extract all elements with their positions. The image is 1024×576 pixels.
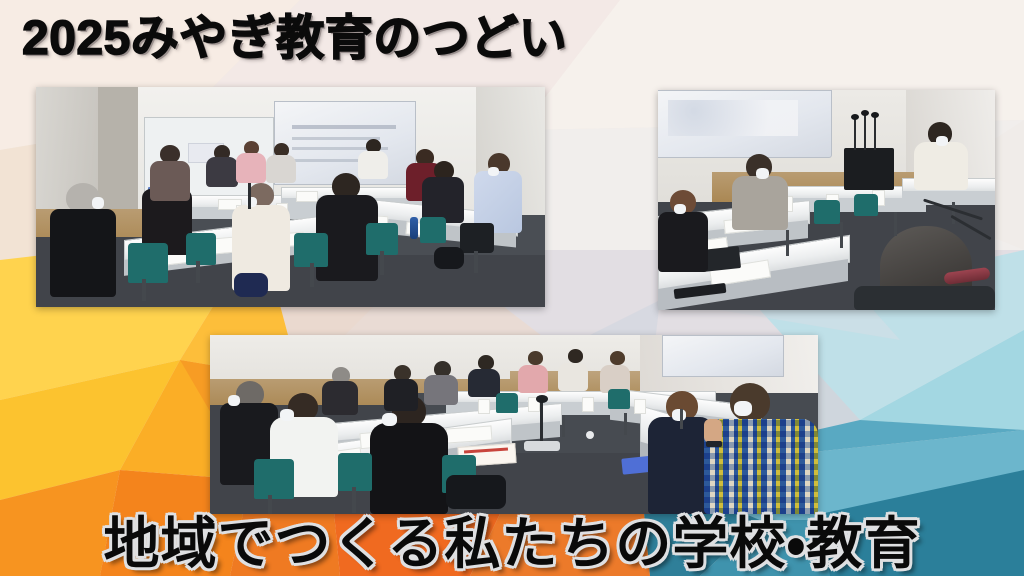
photo-bottom-center: 大きなコの字型の机を囲んで討議する多数の参加者。 <box>210 335 818 514</box>
photo-top-right: 会議室でスクリーンとマイクスタンドを前に着席する参加者たち。 <box>658 90 995 310</box>
slide-caption: 地域でつくる私たちの学校・教育 <box>0 516 1024 572</box>
page-title: 2025みやぎ教育のつどい <box>22 14 567 64</box>
photo-top-left: コの字型に並べた机を囲んで話し合う参加者たち。正面にホワイトボードとプロジェクタ… <box>36 87 545 307</box>
slide-canvas: 2025みやぎ教育のつどい <box>0 0 1024 576</box>
